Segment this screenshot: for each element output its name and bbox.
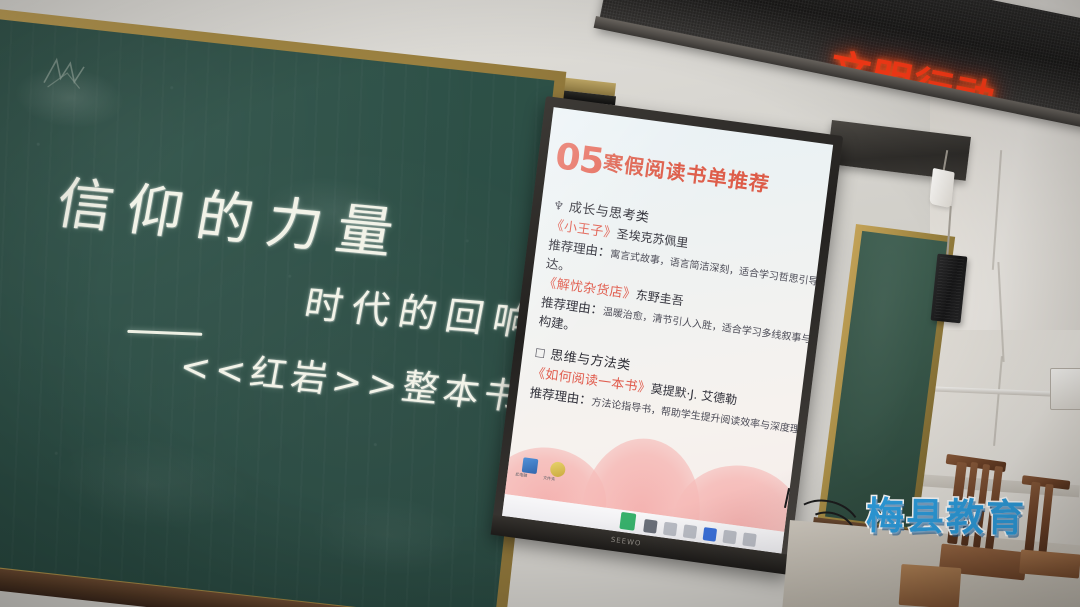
speaker-grill [934, 257, 964, 320]
taskbar-item-media[interactable] [663, 522, 678, 537]
taskbar-item-whiteboard[interactable] [619, 512, 636, 531]
blackboard-right-surface [825, 231, 947, 528]
chalk-dash-mark [127, 330, 202, 336]
chalk-line-booktitle: <<红岩>>整本书阅读 [176, 337, 554, 428]
taskbar-item-settings[interactable] [703, 527, 718, 542]
slide-body: ♆成长与思考类 《小王子》圣埃克苏佩里 推荐理由：寓言式故事，语言简洁深刻，适合… [529, 194, 819, 436]
chalk-line-subtitle: 时代的回响 [300, 273, 545, 347]
classroom-scene: 文明行动 信仰的力量 时代的回响 <<红岩>>整本书阅读 [0, 0, 1080, 607]
chair-seat [1019, 549, 1080, 578]
wall-socket[interactable] [1050, 368, 1080, 410]
chair-front [899, 564, 962, 607]
wall-mount-bracket [929, 168, 954, 208]
taskbar-item-apps[interactable] [722, 530, 737, 545]
slide-heading: 05寒假阅读书单推荐 [553, 136, 772, 206]
slide-section-number: 05 [553, 136, 606, 183]
taskbar-item-note[interactable] [643, 519, 658, 534]
checkbox-icon: ☐ [534, 346, 546, 361]
sprout-icon: ♆ [553, 198, 565, 213]
taskbar-item-more[interactable] [742, 532, 757, 547]
screen-display-panel[interactable]: 05寒假阅读书单推荐 ♆成长与思考类 《小王子》圣埃克苏佩里 推荐理由：寓言式故… [502, 107, 833, 554]
chalk-scribble-icon [39, 52, 89, 97]
chalk-line-title: 信仰的力量 [51, 158, 415, 270]
slide-title: 寒假阅读书单推荐 [602, 146, 772, 197]
blackboard-left-surface: 信仰的力量 时代的回响 <<红岩>>整本书阅读 [0, 17, 554, 607]
chalk-smudge [305, 487, 473, 584]
taskbar-item-browser[interactable] [683, 524, 698, 539]
chalk-smudge [48, 428, 257, 539]
watermark-logo: 梅县教育 [866, 485, 1027, 543]
reason-label: 推荐理由 [529, 385, 580, 407]
